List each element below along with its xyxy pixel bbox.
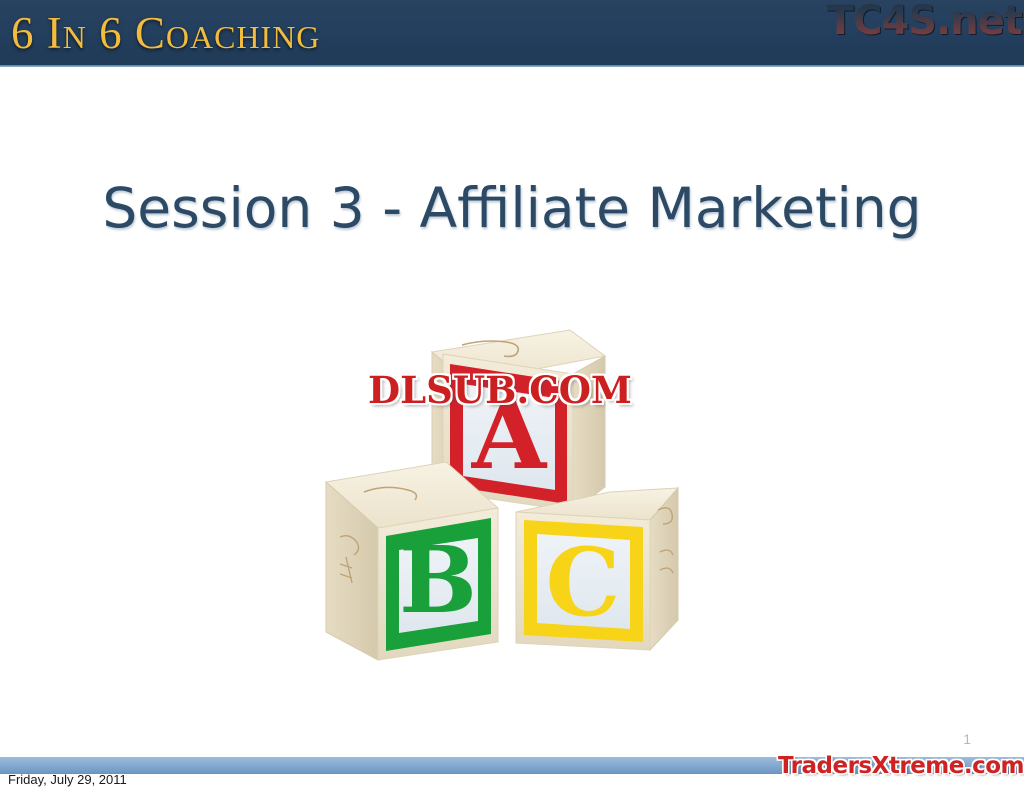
svg-text:B: B (399, 526, 477, 634)
block-c: C (516, 488, 678, 650)
block-b: B (326, 462, 498, 660)
slide-header-banner: 6 In 6 Coaching TC4S.net (0, 0, 1024, 67)
slide-date: Friday, July 29, 2011 (8, 772, 127, 788)
tc4s-brand-logo: TC4S.net (827, 0, 1022, 44)
svg-text:C: C (546, 528, 621, 638)
dlsub-watermark: DLSUB.COM (368, 368, 632, 412)
page-title: Session 3 - Affiliate Marketing (0, 175, 1024, 241)
tradersxtreme-logo: TradersXtreme.com (778, 752, 1024, 780)
slide-canvas: 6 In 6 Coaching TC4S.net Session 3 - Aff… (0, 0, 1024, 788)
course-title: 6 In 6 Coaching (11, 7, 320, 59)
slide-page-number: 1 (963, 730, 971, 748)
